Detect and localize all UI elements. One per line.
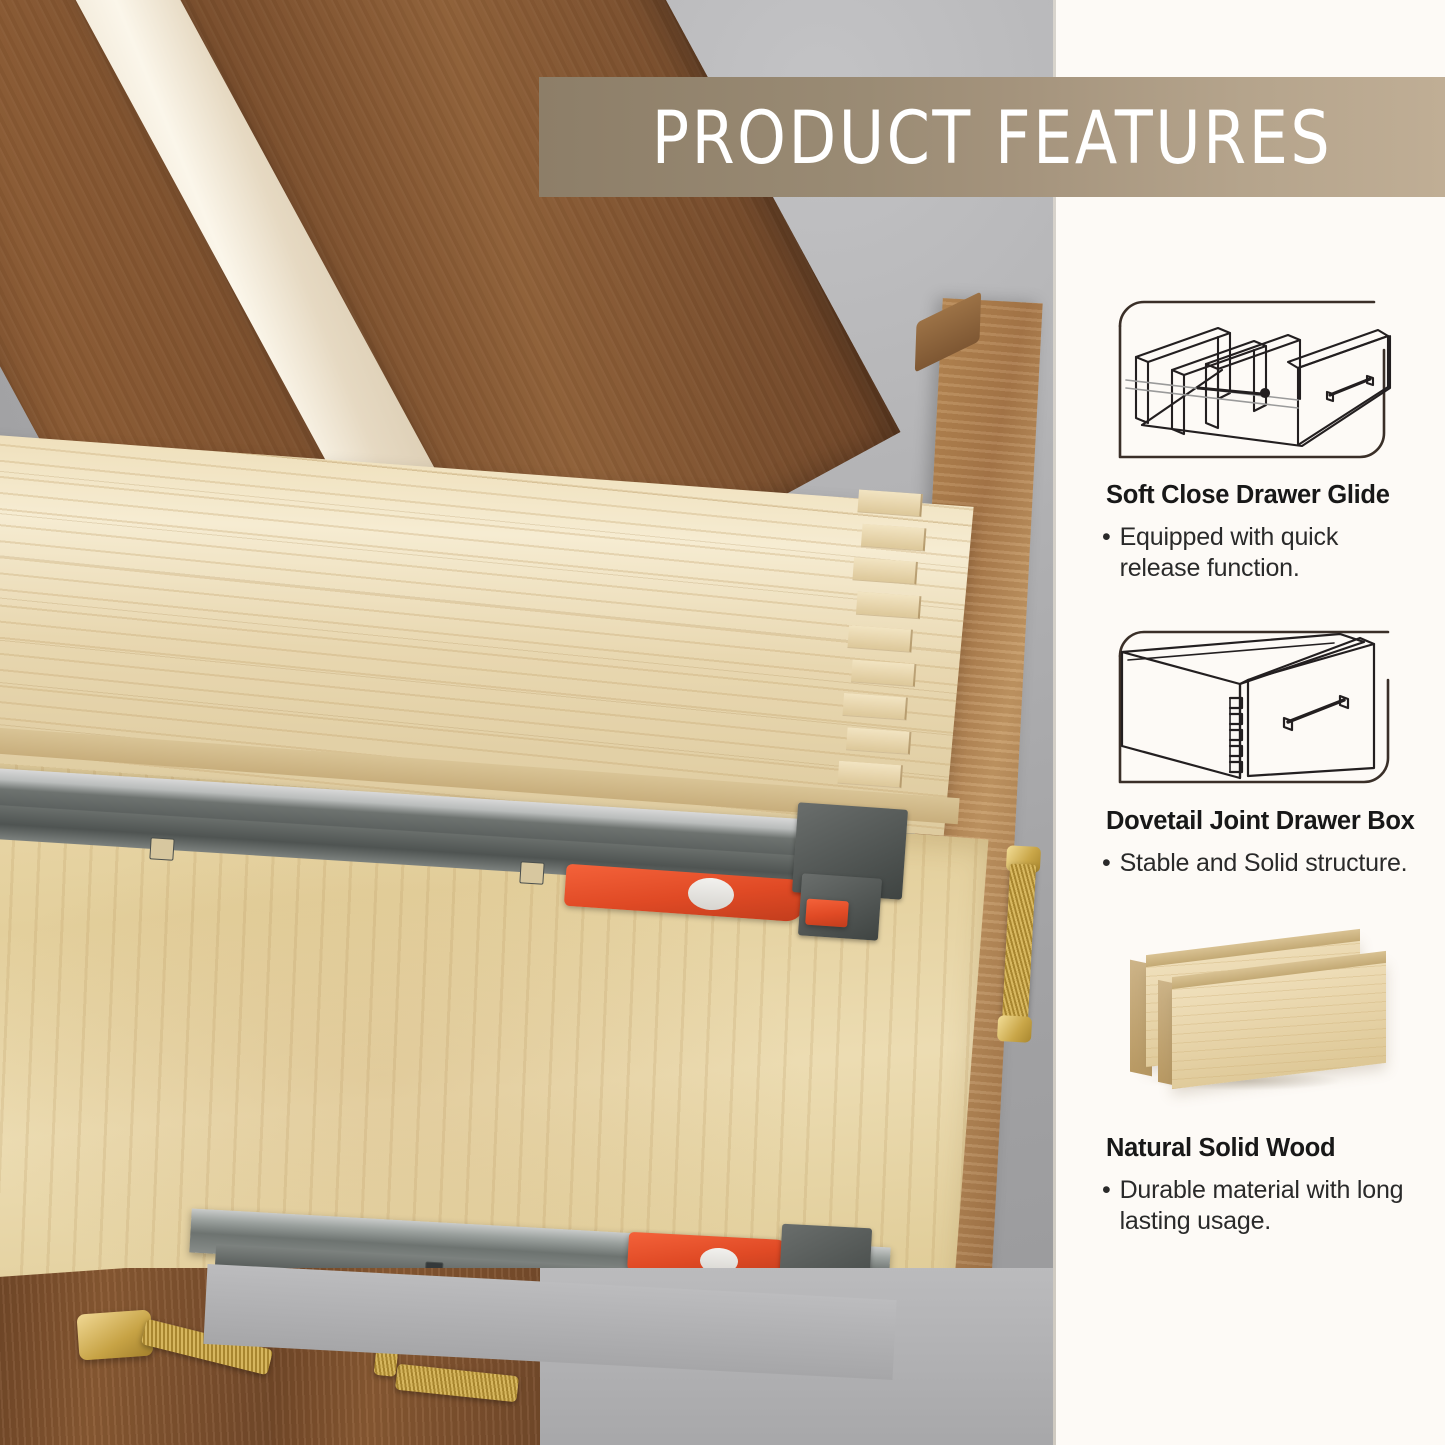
feature-bullet-text: Durable material with long lasting usage… xyxy=(1120,1175,1420,1236)
bullet-marker: • xyxy=(1102,848,1111,879)
slide-notch xyxy=(519,861,544,884)
handle-knurled-bar xyxy=(1002,863,1036,1026)
feature-bullet-text: Stable and Solid structure. xyxy=(1120,848,1408,879)
wood-planks-icon xyxy=(1102,920,1402,1100)
feature-block-solid-wood: Natural Solid Wood • Durable material wi… xyxy=(1056,920,1445,1236)
features-panel: Soft Close Drawer Glide • Equipped with … xyxy=(1056,0,1445,1445)
feature-block-soft-close: Soft Close Drawer Glide • Equipped with … xyxy=(1056,292,1445,583)
page-title: PRODUCT FEATURES xyxy=(652,94,1333,180)
feature-bullet: • Equipped with quick release function. xyxy=(1102,522,1420,583)
release-tab-small xyxy=(805,899,849,928)
infographic-page: Soft Close Drawer Glide • Equipped with … xyxy=(0,0,1445,1445)
feature-bullet-text: Equipped with quick release function. xyxy=(1120,522,1420,583)
title-banner: PRODUCT FEATURES xyxy=(539,77,1445,197)
product-photo xyxy=(0,0,1053,1445)
slide-notch xyxy=(149,837,174,860)
feature-title: Dovetail Joint Drawer Box xyxy=(1106,807,1445,836)
feature-title: Soft Close Drawer Glide xyxy=(1106,481,1445,510)
dovetail-drawer-box-icon xyxy=(1102,618,1402,793)
bullet-marker: • xyxy=(1102,522,1111,583)
drawer-with-dividers-icon xyxy=(1102,292,1402,467)
handle-cap-bottom xyxy=(997,1015,1032,1043)
feature-bullet: • Durable material with long lasting usa… xyxy=(1102,1175,1420,1236)
feature-block-dovetail: Dovetail Joint Drawer Box • Stable and S… xyxy=(1056,618,1445,879)
feature-bullet: • Stable and Solid structure. xyxy=(1102,848,1420,879)
feature-title: Natural Solid Wood xyxy=(1106,1134,1445,1163)
panel-divider xyxy=(1053,0,1056,1445)
bullet-marker: • xyxy=(1102,1175,1111,1236)
